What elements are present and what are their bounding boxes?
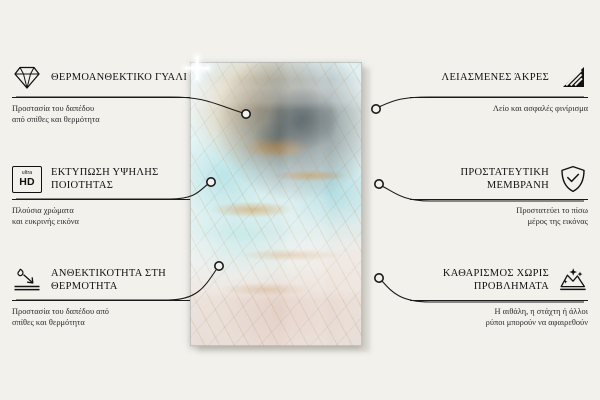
- glass-panel-product-image[interactable]: [190, 62, 362, 346]
- feature-title: ΑΝΘΕΚΤΙΚΟΤΗΤΑ ΣΤΗ ΘΕΡΜΟΤΗΤΑ: [51, 267, 190, 293]
- flame-deflect-icon: [12, 265, 42, 295]
- ultra-hd-badge-main-label: HD: [19, 177, 35, 188]
- feature-header: ΑΝΘΕΚΤΙΚΟΤΗΤΑ ΣΤΗ ΘΕΡΜΟΤΗΤΑ: [12, 265, 190, 295]
- smooth-edges-icon: [558, 62, 588, 92]
- feature-divider: [12, 97, 190, 98]
- feature-divider: [12, 199, 190, 200]
- feature-divider: [410, 199, 588, 200]
- feature-description: Προστατεύει το πίσω μέρος της εικόνας: [410, 205, 588, 228]
- feature-divider: [410, 97, 588, 98]
- feature-block-protective-membrane: ΠΡΟΣΤΑΤΕΥΤΙΚΗ ΜΕΜΒΡΑΝΗ Προστατεύει το πί…: [410, 164, 588, 228]
- feature-header: ΘΕΡΜΟΑΝΘΕΚΤΙΚΟ ΓΥΑΛΙ: [12, 62, 190, 92]
- feature-description: Πλούσια χρώματα και ευκρινής εικόνα: [12, 205, 190, 228]
- feature-divider: [410, 300, 588, 301]
- feature-title: ΠΡΟΣΤΑΤΕΥΤΙΚΗ ΜΕΜΒΡΑΝΗ: [410, 166, 549, 192]
- product-stage: [190, 62, 370, 352]
- feature-title: ΕΚΤΥΠΩΣΗ ΥΨΗΛΗΣ ΠΟΙΟΤΗΤΑΣ: [51, 166, 190, 192]
- feature-title: ΘΕΡΜΟΑΝΘΕΚΤΙΚΟ ΓΥΑΛΙ: [51, 71, 187, 84]
- feature-block-smooth-edges: ΛΕΙΑΣΜΕΝΕΣ ΆΚΡΕΣ Λείο και ασφαλές φινίρι…: [410, 62, 588, 114]
- feature-header: ΚΑΘΑΡΙΣΜΟΣ ΧΩΡΙΣ ΠΡΟΒΛΗΜΑΤΑ: [410, 265, 588, 295]
- feature-title: ΚΑΘΑΡΙΣΜΟΣ ΧΩΡΙΣ ΠΡΟΒΛΗΜΑΤΑ: [410, 267, 549, 293]
- feature-description: Λείο και ασφαλές φινίρισμα: [410, 103, 588, 114]
- feature-header: ΠΡΟΣΤΑΤΕΥΤΙΚΗ ΜΕΜΒΡΑΝΗ: [410, 164, 588, 194]
- ultra-hd-badge-icon: ultra HD: [12, 164, 42, 194]
- shield-check-icon: [558, 164, 588, 194]
- feature-header: ultra HD ΕΚΤΥΠΩΣΗ ΥΨΗΛΗΣ ΠΟΙΟΤΗΤΑΣ: [12, 164, 190, 194]
- glass-edge-outline: [190, 62, 362, 346]
- feature-block-heat-resistant-glass: ΘΕΡΜΟΑΝΘΕΚΤΙΚΟ ΓΥΑΛΙ Προστασία του δαπέδ…: [12, 62, 190, 126]
- feature-block-easy-cleaning: ΚΑΘΑΡΙΣΜΟΣ ΧΩΡΙΣ ΠΡΟΒΛΗΜΑΤΑ Η αιθάλη, η …: [410, 265, 588, 329]
- feature-description: Προστασία του δαπέδου από σπίθες και θερ…: [12, 103, 190, 126]
- feature-title: ΛΕΙΑΣΜΕΝΕΣ ΆΚΡΕΣ: [442, 71, 549, 84]
- feature-block-high-quality-print: ultra HD ΕΚΤΥΠΩΣΗ ΥΨΗΛΗΣ ΠΟΙΟΤΗΤΑΣ Πλούσ…: [12, 164, 190, 228]
- diamond-icon: [12, 62, 42, 92]
- feature-description: Η αιθάλη, η στάχτη ή άλλοι ρύποι μπορούν…: [410, 306, 588, 329]
- connector-dot-right-1: [372, 105, 380, 113]
- feature-divider: [12, 300, 190, 301]
- sparkle-clean-icon: [558, 265, 588, 295]
- connector-dot-right-2: [375, 180, 383, 188]
- product-infographic: ΘΕΡΜΟΑΝΘΕΚΤΙΚΟ ΓΥΑΛΙ Προστασία του δαπέδ…: [0, 0, 600, 400]
- feature-block-heat-durability: ΑΝΘΕΚΤΙΚΟΤΗΤΑ ΣΤΗ ΘΕΡΜΟΤΗΤΑ Προστασία το…: [12, 265, 190, 329]
- feature-description: Προστασία του δαπέδου από σπίθες και θερ…: [12, 306, 190, 329]
- connector-dot-right-3: [375, 274, 383, 282]
- feature-header: ΛΕΙΑΣΜΕΝΕΣ ΆΚΡΕΣ: [410, 62, 588, 92]
